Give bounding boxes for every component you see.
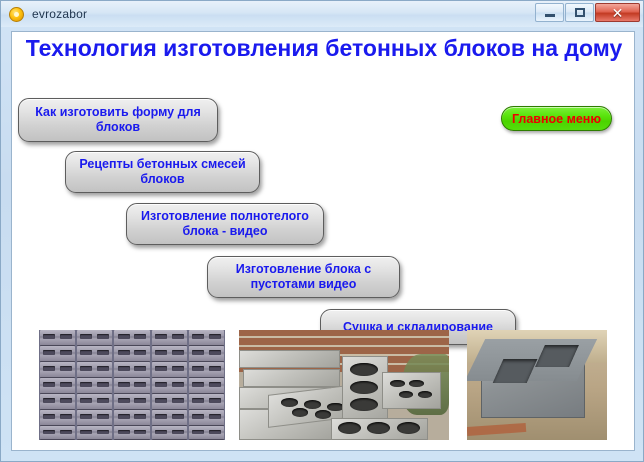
stacked-slotted-concrete-blocks-photo [39,330,225,440]
minimize-button[interactable] [535,3,564,22]
disc-icon [9,7,24,22]
step-button-solid-block-video[interactable]: Изготовление полнотелого блока - видео [126,203,324,245]
step-button-make-mold[interactable]: Как изготовить форму для блоков [18,98,218,142]
content-panel: Технология изготовления бетонных блоков … [11,31,635,451]
window-controls: ✕ [534,3,640,22]
close-button[interactable]: ✕ [595,3,640,22]
application-window: evrozabor ✕ Технология изготовления бето… [0,0,644,462]
single-cinder-block-photo [467,330,607,440]
page-title: Технология изготовления бетонных блоков … [12,35,636,62]
close-icon: ✕ [612,6,624,20]
title-bar: evrozabor ✕ [1,1,643,27]
maximize-button[interactable] [565,3,594,22]
window-title: evrozabor [32,7,87,21]
main-menu-button[interactable]: Главное меню [501,106,612,131]
maximize-icon [575,8,585,17]
hollow-core-concrete-blocks-photo [239,330,449,440]
step-button-concrete-mix-recipes[interactable]: Рецепты бетонных смесей блоков [65,151,260,193]
step-button-hollow-block-video[interactable]: Изготовление блока с пустотами видео [207,256,400,298]
minimize-icon [545,14,555,17]
